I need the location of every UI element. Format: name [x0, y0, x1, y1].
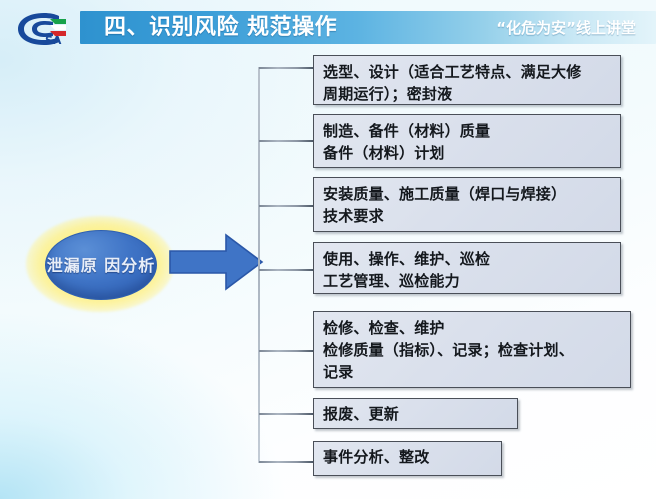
root-node[interactable]: 泄漏原 因分析: [45, 230, 157, 300]
branch-box-3-text: 安装质量、施工质量（焊口与焊接） 技术要求: [323, 183, 611, 227]
branch-line-5: [259, 350, 313, 352]
root-node-label: 泄漏原 因分析: [47, 255, 156, 276]
branch-box-6-text: 报废、更新: [323, 404, 508, 425]
csa-logo: SA: [14, 10, 76, 48]
branch-box-5[interactable]: 检修、检查、维护 检修质量（指标）、记录；检查计划、 记录: [313, 311, 631, 388]
branch-box-4[interactable]: 使用、操作、维护、巡检 工艺管理、巡检能力: [313, 242, 621, 294]
branch-line-7: [259, 461, 313, 463]
branch-box-4-text: 使用、操作、维护、巡检 工艺管理、巡检能力: [323, 248, 611, 292]
branch-line-2: [259, 140, 313, 142]
tree-trunk-line: [258, 67, 260, 463]
branch-line-1: [259, 67, 313, 69]
slide-canvas: SA 四、识别风险 规范操作 “化危为安”线上讲堂 泄漏原 因分析 选型、设计（…: [0, 0, 656, 499]
branch-box-7[interactable]: 事件分析、整改: [313, 441, 502, 476]
branch-box-1-text: 选型、设计（适合工艺特点、满足大修 周期运行）；密封液: [323, 61, 611, 105]
page-title: 四、识别风险 规范操作: [104, 15, 337, 41]
branch-box-5-text: 检修、检查、维护 检修质量（指标）、记录；检查计划、 记录: [323, 317, 621, 383]
branch-box-3[interactable]: 安装质量、施工质量（焊口与焊接） 技术要求: [313, 177, 621, 232]
branch-line-3: [259, 205, 313, 207]
branch-box-1[interactable]: 选型、设计（适合工艺特点、满足大修 周期运行）；密封液: [313, 55, 621, 105]
branch-box-2-text: 制造、备件（材料）质量 备件（材料）计划: [323, 120, 611, 164]
branch-box-7-text: 事件分析、整改: [323, 447, 492, 468]
right-arrow-icon: [168, 231, 264, 293]
branch-line-4: [259, 269, 313, 271]
branch-box-2[interactable]: 制造、备件（材料）质量 备件（材料）计划: [313, 114, 621, 168]
branch-box-6[interactable]: 报废、更新: [313, 398, 518, 429]
header-subtitle: “化危为安”线上讲堂: [496, 18, 636, 38]
branch-line-6: [259, 413, 313, 415]
svg-text:SA: SA: [45, 34, 62, 47]
